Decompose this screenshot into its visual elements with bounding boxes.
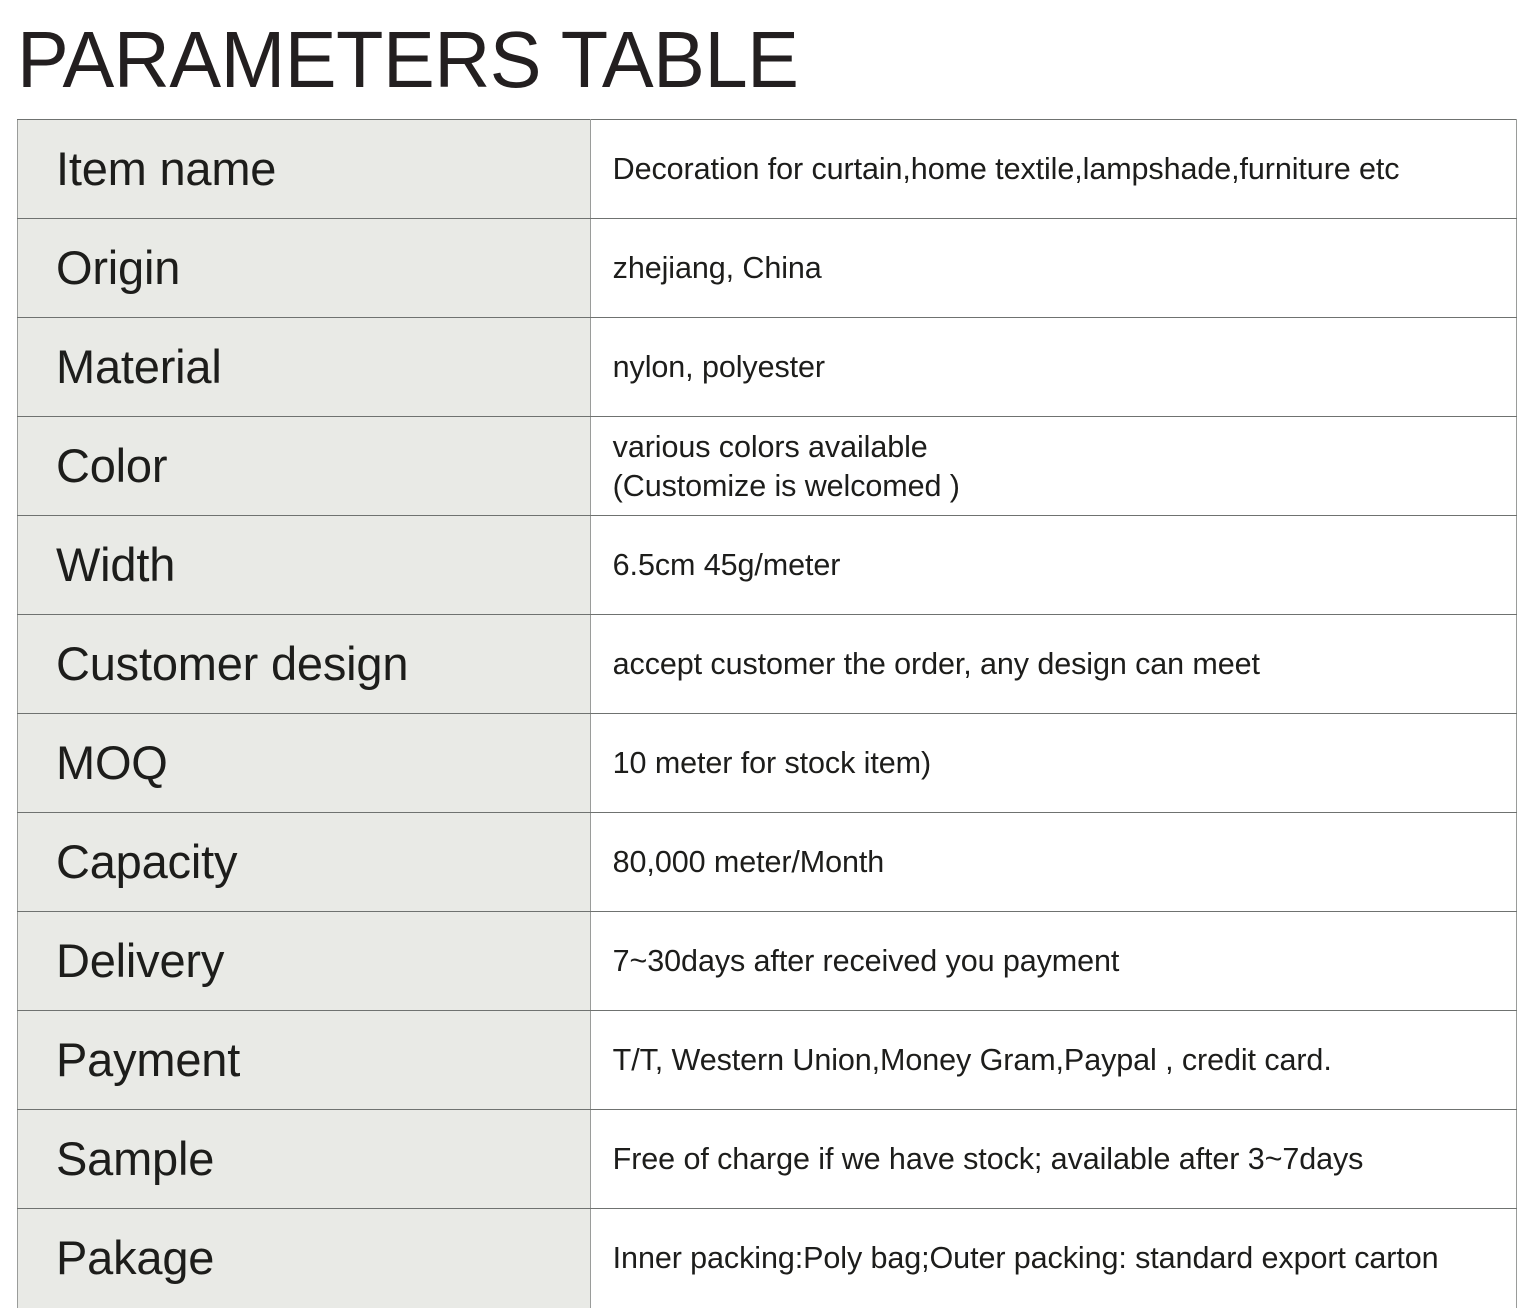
row-value-pakage: Inner packing:Poly bag;Outer packing: st…: [591, 1238, 1502, 1278]
row-value-cell-capacity: 80,000 meter/Month: [591, 813, 1517, 912]
row-value-material: nylon, polyester: [591, 347, 1502, 387]
row-value-payment: T/T, Western Union,Money Gram,Paypal , c…: [591, 1040, 1502, 1080]
page-title: PARAMETERS TABLE: [17, 16, 987, 104]
row-label-cell-color: Color: [18, 417, 591, 516]
row-value-color: various colors available (Customize is w…: [591, 427, 1502, 505]
row-value-width: 6.5cm 45g/meter: [591, 545, 1502, 585]
table-row: Delivery 7~30days after received you pay…: [18, 912, 1517, 1011]
row-value-cell-item-name: Decoration for curtain,home textile,lamp…: [591, 120, 1517, 219]
row-label-cell-item-name: Item name: [18, 120, 591, 219]
row-value-cell-sample: Free of charge if we have stock; availab…: [591, 1110, 1517, 1209]
row-label-cell-sample: Sample: [18, 1110, 591, 1209]
row-label-pakage: Pakage: [18, 1231, 590, 1285]
row-label-origin: Origin: [18, 241, 590, 295]
row-value-cell-moq: 10 meter for stock item): [591, 714, 1517, 813]
row-value-moq: 10 meter for stock item): [591, 743, 1502, 783]
table-row: Capacity 80,000 meter/Month: [18, 813, 1517, 912]
table-row: Item name Decoration for curtain,home te…: [18, 120, 1517, 219]
table-row: Width 6.5cm 45g/meter: [18, 516, 1517, 615]
row-value-customer-design: accept customer the order, any design ca…: [591, 644, 1502, 684]
row-label-cell-delivery: Delivery: [18, 912, 591, 1011]
row-value-sample: Free of charge if we have stock; availab…: [591, 1139, 1502, 1179]
row-label-capacity: Capacity: [18, 835, 590, 889]
row-label-color: Color: [18, 439, 590, 493]
row-label-moq: MOQ: [18, 736, 590, 790]
row-label-cell-moq: MOQ: [18, 714, 591, 813]
table-row: Color various colors available (Customiz…: [18, 417, 1517, 516]
row-value-cell-pakage: Inner packing:Poly bag;Outer packing: st…: [591, 1209, 1517, 1308]
row-label-cell-pakage: Pakage: [18, 1209, 591, 1308]
row-value-origin: zhejiang, China: [591, 248, 1502, 288]
row-value-cell-color: various colors available (Customize is w…: [591, 417, 1517, 516]
row-label-cell-origin: Origin: [18, 219, 591, 318]
table-row: Customer design accept customer the orde…: [18, 615, 1517, 714]
parameters-table: Item name Decoration for curtain,home te…: [17, 119, 1517, 1308]
row-label-width: Width: [18, 538, 590, 592]
row-value-capacity: 80,000 meter/Month: [591, 842, 1502, 882]
parameters-table-page: PARAMETERS TABLE Item name Decoration fo…: [0, 0, 1535, 1311]
row-label-payment: Payment: [18, 1033, 590, 1087]
row-label-delivery: Delivery: [18, 934, 590, 988]
row-label-cell-payment: Payment: [18, 1011, 591, 1110]
row-label-sample: Sample: [18, 1132, 590, 1186]
row-label-cell-material: Material: [18, 318, 591, 417]
table-row: Material nylon, polyester: [18, 318, 1517, 417]
row-value-cell-material: nylon, polyester: [591, 318, 1517, 417]
row-value-cell-customer-design: accept customer the order, any design ca…: [591, 615, 1517, 714]
row-value-item-name: Decoration for curtain,home textile,lamp…: [591, 149, 1502, 189]
table-row: Payment T/T, Western Union,Money Gram,Pa…: [18, 1011, 1517, 1110]
row-label-cell-width: Width: [18, 516, 591, 615]
row-value-cell-origin: zhejiang, China: [591, 219, 1517, 318]
table-row: Pakage Inner packing:Poly bag;Outer pack…: [18, 1209, 1517, 1308]
row-label-cell-capacity: Capacity: [18, 813, 591, 912]
row-value-delivery: 7~30days after received you payment: [591, 941, 1502, 981]
row-label-material: Material: [18, 340, 590, 394]
table-row: MOQ 10 meter for stock item): [18, 714, 1517, 813]
table-row: Sample Free of charge if we have stock; …: [18, 1110, 1517, 1209]
row-value-cell-payment: T/T, Western Union,Money Gram,Paypal , c…: [591, 1011, 1517, 1110]
row-label-cell-customer-design: Customer design: [18, 615, 591, 714]
row-value-cell-width: 6.5cm 45g/meter: [591, 516, 1517, 615]
row-label-customer-design: Customer design: [18, 637, 590, 691]
row-label-item-name: Item name: [18, 142, 590, 196]
table-row: Origin zhejiang, China: [18, 219, 1517, 318]
row-value-cell-delivery: 7~30days after received you payment: [591, 912, 1517, 1011]
table-body: Item name Decoration for curtain,home te…: [18, 120, 1517, 1308]
